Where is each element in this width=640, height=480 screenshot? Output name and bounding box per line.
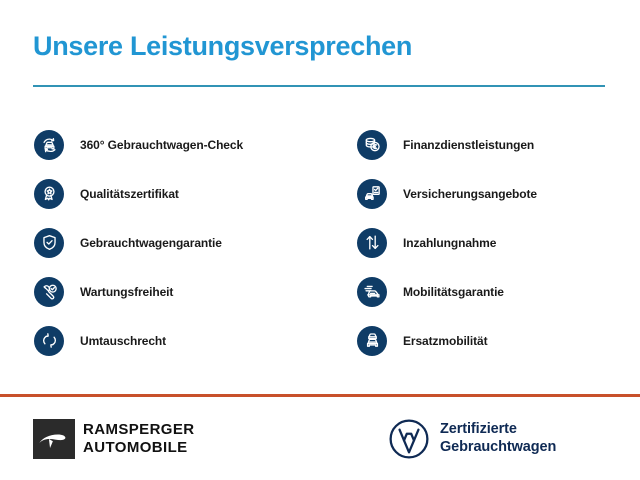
features-right-column: Finanzdienstleistungen Versicheru xyxy=(317,120,640,370)
up-down-arrows-icon xyxy=(357,228,387,258)
vw-certified-logo[interactable]: Zertifizierte Gebrauchtwagen xyxy=(388,418,556,460)
feature-item-360-check[interactable]: 360° Gebrauchtwagen-Check xyxy=(34,120,317,169)
features-left-column: 360° Gebrauchtwagen-Check Qualitätszerti… xyxy=(0,120,317,370)
title-divider xyxy=(33,85,605,87)
car-document-check-icon xyxy=(357,179,387,209)
feature-label: Umtauschrecht xyxy=(80,334,166,348)
header: Unsere Leistungsversprechen xyxy=(0,0,640,100)
feature-label: 360° Gebrauchtwagen-Check xyxy=(80,138,243,152)
vw-label-line1: Zertifizierte xyxy=(440,421,517,437)
exchange-arrows-icon xyxy=(34,326,64,356)
feature-label: Inzahlungnahme xyxy=(403,236,496,250)
feature-item-mobility-guarantee[interactable]: Mobilitätsgarantie xyxy=(357,267,640,316)
promo-slide: Unsere Leistungsversprechen xyxy=(0,0,640,480)
feature-item-warranty[interactable]: Gebrauchtwagengarantie xyxy=(34,218,317,267)
two-cars-icon xyxy=(357,326,387,356)
feature-label: Ersatzmobilität xyxy=(403,334,488,348)
feature-item-quality-certificate[interactable]: Qualitätszertifikat xyxy=(34,169,317,218)
feature-label: Mobilitätsgarantie xyxy=(403,285,504,299)
dealer-name-line2: AUTOMOBILE xyxy=(83,439,188,456)
feature-item-maintenance-free[interactable]: Wartungsfreiheit xyxy=(34,267,317,316)
footer: RAMSPERGER AUTOMOBILE Zertifizierte Gebr… xyxy=(0,397,640,480)
award-rosette-icon xyxy=(34,179,64,209)
page-title: Unsere Leistungsversprechen xyxy=(33,32,412,62)
dealer-logo-wordmark: RAMSPERGER AUTOMOBILE xyxy=(83,421,195,456)
vw-label-line2: Gebrauchtwagen xyxy=(440,439,556,455)
feature-item-exchange-right[interactable]: Umtauschrecht xyxy=(34,316,317,365)
feature-label: Versicherungsangebote xyxy=(403,187,537,201)
car-360-check-icon xyxy=(34,130,64,160)
dealer-name-line1: RAMSPERGER xyxy=(83,421,195,438)
wrench-check-icon xyxy=(34,277,64,307)
shield-check-icon xyxy=(34,228,64,258)
feature-label: Gebrauchtwagengarantie xyxy=(80,236,222,250)
feature-label: Qualitätszertifikat xyxy=(80,187,179,201)
dealer-logo[interactable]: RAMSPERGER AUTOMOBILE xyxy=(33,419,195,459)
car-speed-icon xyxy=(357,277,387,307)
vw-logo-wordmark: Zertifizierte Gebrauchtwagen xyxy=(440,421,556,456)
volkswagen-logo-icon xyxy=(388,418,430,460)
feature-label: Wartungsfreiheit xyxy=(80,285,173,299)
feature-item-replacement-mobility[interactable]: Ersatzmobilität xyxy=(357,316,640,365)
feature-item-financial-services[interactable]: Finanzdienstleistungen xyxy=(357,120,640,169)
features-grid: 360° Gebrauchtwagen-Check Qualitätszerti… xyxy=(0,120,640,370)
feature-label: Finanzdienstleistungen xyxy=(403,138,534,152)
feature-item-trade-in[interactable]: Inzahlungnahme xyxy=(357,218,640,267)
feature-item-insurance-offers[interactable]: Versicherungsangebote xyxy=(357,169,640,218)
coins-euro-icon xyxy=(357,130,387,160)
ramsperger-swoosh-icon xyxy=(33,419,75,459)
